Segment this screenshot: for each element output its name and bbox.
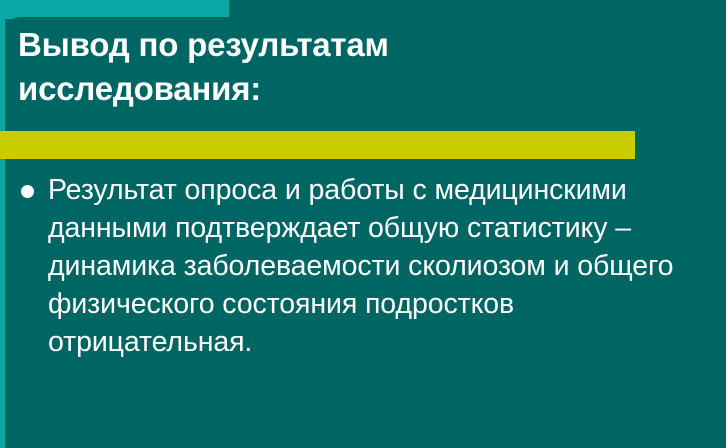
bullet-list: Результат опроса и работы с медицинскими… [21, 172, 691, 361]
bullet-item-text: Результат опроса и работы с медицинскими… [48, 172, 691, 361]
slide-canvas: Вывод по результатам исследования: Резул… [0, 0, 726, 448]
bullet-disc-icon [21, 185, 34, 198]
slide-title: Вывод по результатам исследования: [18, 23, 668, 110]
title-underline-rule [0, 131, 635, 159]
